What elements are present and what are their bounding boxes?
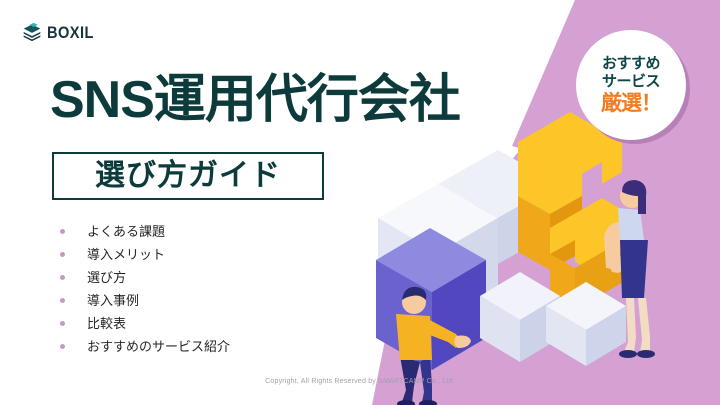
- list-item-label: おすすめのサービス紹介: [87, 340, 230, 353]
- badge-circle: おすすめ サービス 厳選！: [576, 30, 686, 140]
- list-item-label: 導入事例: [87, 294, 139, 307]
- list-item-label: 導入メリット: [87, 248, 165, 261]
- badge-line-2: サービス: [602, 73, 660, 90]
- list-item: よくある課題: [60, 220, 230, 242]
- stacked-layers-icon: [22, 22, 42, 42]
- list-item: 導入メリット: [60, 243, 230, 265]
- list-item-label: 比較表: [87, 317, 126, 330]
- subtitle-text: 選び方ガイド: [95, 161, 281, 191]
- badge-line-3: 厳選！: [601, 92, 661, 115]
- logo-wordmark: BOXIL: [47, 24, 94, 41]
- bullet-dot-icon: [60, 344, 65, 349]
- recommend-badge: おすすめ サービス 厳選！: [572, 26, 692, 142]
- bullet-dot-icon: [60, 298, 65, 303]
- boxil-logo[interactable]: BOXIL: [22, 22, 101, 42]
- list-item: おすすめのサービス紹介: [60, 335, 230, 357]
- agenda-list: よくある課題 導入メリット 選び方 導入事例 比較表 おすすめのサービス紹介: [60, 220, 230, 358]
- isometric-illustration: [370, 110, 720, 405]
- bullet-dot-icon: [60, 275, 65, 280]
- list-item-label: よくある課題: [87, 225, 165, 238]
- list-item-label: 選び方: [87, 271, 126, 284]
- list-item: 選び方: [60, 266, 230, 288]
- list-item: 導入事例: [60, 289, 230, 311]
- list-item: 比較表: [60, 312, 230, 334]
- bullet-dot-icon: [60, 229, 65, 234]
- bullet-dot-icon: [60, 321, 65, 326]
- copyright-text: Copyright, All Rights Reserved by SMARTC…: [0, 378, 720, 385]
- badge-line-1: おすすめ: [602, 55, 660, 72]
- slide-canvas: BOXIL SNS運用代行会社 選び方ガイド よくある課題 導入メリット 選び方…: [0, 0, 720, 405]
- bullet-dot-icon: [60, 252, 65, 257]
- subtitle-box: 選び方ガイド: [52, 152, 324, 200]
